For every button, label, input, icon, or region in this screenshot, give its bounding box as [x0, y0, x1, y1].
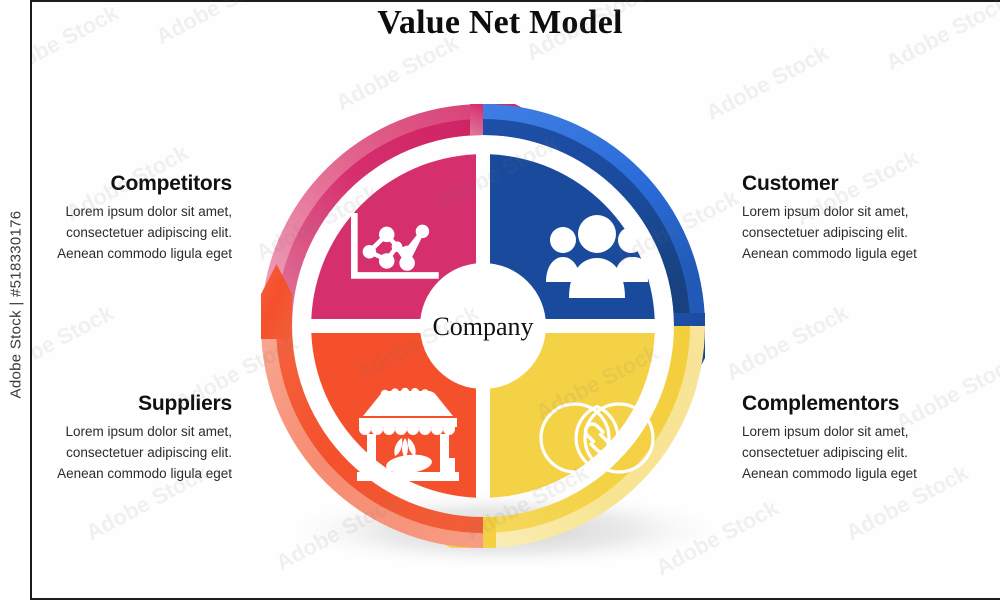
stock-id-rail: Adobe Stock | #518330176 [0, 0, 32, 600]
infographic-page: Value Net Model [0, 0, 1000, 600]
body-customer: Lorem ipsum dolor sit amet, consectetuer… [742, 202, 974, 265]
top-border-line [0, 0, 1000, 2]
heading-customer: Customer [742, 172, 974, 196]
label-block-complementors: Complementors Lorem ipsum dolor sit amet… [742, 392, 982, 485]
stock-id-text: Adobe Stock | #518330176 [8, 75, 25, 535]
label-block-competitors: Competitors Lorem ipsum dolor sit amet, … [20, 172, 232, 265]
body-competitors: Lorem ipsum dolor sit amet, consectetuer… [20, 202, 232, 265]
heading-complementors: Complementors [742, 392, 982, 416]
body-suppliers: Lorem ipsum dolor sit amet, consectetuer… [28, 422, 232, 485]
center-label: Company [432, 312, 533, 341]
page-title: Value Net Model [0, 4, 1000, 42]
heading-competitors: Competitors [20, 172, 232, 196]
value-net-circular-diagram: Company [215, 58, 785, 578]
body-complementors: Lorem ipsum dolor sit amet, consectetuer… [742, 422, 982, 485]
label-block-suppliers: Suppliers Lorem ipsum dolor sit amet, co… [28, 392, 232, 485]
label-block-customer: Customer Lorem ipsum dolor sit amet, con… [742, 172, 974, 265]
heading-suppliers: Suppliers [28, 392, 232, 416]
